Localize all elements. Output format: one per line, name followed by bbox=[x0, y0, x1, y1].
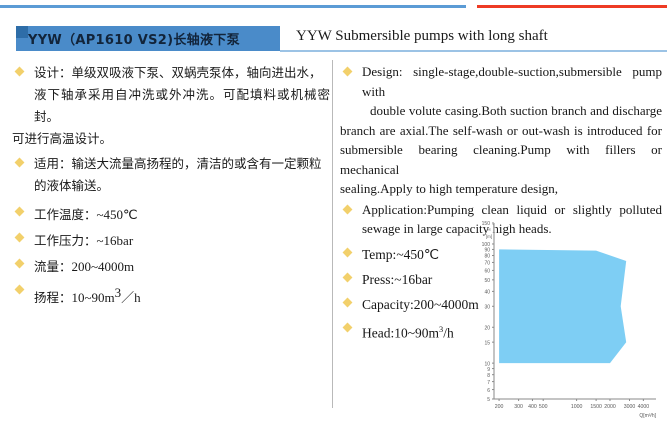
chart-xtick-label: 300 bbox=[514, 404, 523, 410]
title-banner-corner bbox=[16, 26, 28, 38]
spec-capacity-cn: 流量：200~4000m bbox=[12, 254, 330, 279]
column-divider bbox=[332, 60, 333, 408]
chart-ytick-label: 5 bbox=[487, 397, 490, 403]
spec-head-value-cn: 10~90m bbox=[72, 290, 115, 305]
design-block-en: Design: single-stage,double-suction,subm… bbox=[340, 62, 662, 199]
spec-head-label-cn: 扬程： bbox=[34, 290, 72, 305]
chart-ytick-label: 100 bbox=[482, 242, 491, 248]
design-line-1-en: Design: single-stage,double-suction,subm… bbox=[362, 62, 662, 101]
chart-ytick-label: 9 bbox=[487, 367, 490, 373]
chart-xlabel: Q[m³/h] bbox=[639, 413, 656, 419]
chart-xtick-label: 1000 bbox=[571, 404, 583, 410]
diamond-bullet-icon bbox=[15, 259, 25, 269]
top-rule-blue bbox=[0, 5, 466, 8]
design-line-3-en: branch are axial.The self-wash or out-wa… bbox=[340, 121, 662, 141]
spec-capacity-value-cn: 200~4000m bbox=[72, 259, 135, 274]
spec-temp-value-cn: ~450℃ bbox=[97, 207, 138, 222]
page-header: YYW（AP1610 VS2)长轴液下泵 YYW Submersible pum… bbox=[0, 26, 667, 54]
performance-chart-svg: 5678910152030405060708090100150200300400… bbox=[468, 217, 664, 423]
spec-press-value-en: ~16bar bbox=[394, 272, 432, 287]
chart-xtick-label: 200 bbox=[495, 404, 504, 410]
chart-ytick-label: 15 bbox=[484, 340, 490, 346]
chart-ytick-label: 40 bbox=[484, 290, 490, 296]
chart-xtick-label: 400 bbox=[528, 404, 537, 410]
application-block-cn: 适用：输送大流量高扬程的，清洁的或含有一定颗粒 的液体输送。 bbox=[12, 153, 330, 197]
chart-ytick-label: 70 bbox=[484, 261, 490, 267]
header-underline bbox=[280, 50, 667, 52]
spec-head-unit-cn: ／h bbox=[121, 290, 141, 305]
design-line-2-en: double volute casing.Both suction branch… bbox=[362, 101, 662, 121]
diamond-bullet-icon bbox=[15, 158, 25, 168]
spec-capacity-label-cn: 流量： bbox=[34, 259, 72, 274]
top-rule-red bbox=[477, 5, 667, 8]
spec-temp-value-en: ~450℃ bbox=[396, 247, 439, 262]
chart-ytick-label: 90 bbox=[484, 248, 490, 254]
page-title-en: YYW Submersible pumps with long shaft bbox=[296, 28, 548, 45]
chart-xtick-label: 500 bbox=[539, 404, 548, 410]
diamond-bullet-icon bbox=[343, 204, 353, 214]
spec-press-label-cn: 工作压力： bbox=[34, 233, 97, 248]
slide-page: YYW（AP1610 VS2)长轴液下泵 YYW Submersible pum… bbox=[0, 0, 667, 428]
design-line-4-en: submersible bearing cleaning.Pump with f… bbox=[340, 140, 662, 179]
spec-capacity-label-en: Capacity: bbox=[362, 297, 414, 312]
left-column: 设计：单级双吸液下泵、双蜗壳泵体，轴向进出水， 液下轴承采用自冲洗或外冲洗。可配… bbox=[12, 62, 330, 311]
chart-ytick-label: 30 bbox=[484, 304, 490, 310]
diamond-bullet-icon bbox=[15, 207, 25, 217]
diamond-bullet-icon bbox=[343, 272, 353, 282]
chart-ytick-label: 60 bbox=[484, 269, 490, 275]
chart-ytick-label: 20 bbox=[484, 325, 490, 331]
chart-ytick-label: 6 bbox=[487, 388, 490, 394]
spec-press-label-en: Press: bbox=[362, 272, 394, 287]
spec-head-value-en: 10~90m bbox=[394, 325, 439, 340]
diamond-bullet-icon bbox=[343, 67, 353, 77]
chart-ytick-label: 7 bbox=[487, 380, 490, 386]
diamond-bullet-icon bbox=[15, 285, 25, 295]
chart-ytick-label: 8 bbox=[487, 373, 490, 379]
design-line-5-en: sealing.Apply to high temperature design… bbox=[340, 179, 662, 199]
chart-ytick-label: 50 bbox=[484, 278, 490, 284]
chart-ytick-label: 80 bbox=[484, 254, 490, 260]
design-block-cn: 设计：单级双吸液下泵、双蜗壳泵体，轴向进出水， 液下轴承采用自冲洗或外冲洗。可配… bbox=[12, 62, 330, 150]
chart-envelope-area bbox=[499, 249, 626, 363]
performance-chart: 5678910152030405060708090100150200300400… bbox=[468, 217, 664, 423]
chart-xtick-label: 1500 bbox=[590, 404, 602, 410]
spec-head-unit-en: /h bbox=[443, 325, 454, 340]
spec-temp-label-en: Temp: bbox=[362, 247, 396, 262]
spec-head-label-en: Head: bbox=[362, 325, 394, 340]
design-line-1: 设计：单级双吸液下泵、双蜗壳泵体，轴向进出水， bbox=[34, 62, 330, 84]
spec-press-cn: 工作压力：~16bar bbox=[12, 228, 330, 253]
spec-temp-cn: 工作温度：~450℃ bbox=[12, 202, 330, 227]
diamond-bullet-icon bbox=[343, 322, 353, 332]
diamond-bullet-icon bbox=[343, 297, 353, 307]
chart-ylabel: H bbox=[487, 227, 490, 232]
chart-xtick-label: 4000 bbox=[638, 404, 650, 410]
spec-temp-label-cn: 工作温度： bbox=[34, 207, 97, 222]
chart-ytick-label: 10 bbox=[484, 361, 490, 367]
chart-xtick-label: 3000 bbox=[624, 404, 636, 410]
design-line-2: 液下轴承采用自冲洗或外冲洗。可配填料或机械密封。 bbox=[34, 84, 330, 128]
chart-xtick-label: 2000 bbox=[604, 404, 616, 410]
chart-ylabel-unit: [m] bbox=[486, 234, 492, 239]
application-line-2: 的液体输送。 bbox=[34, 175, 330, 197]
diamond-bullet-icon bbox=[15, 233, 25, 243]
page-title-cn: YYW（AP1610 VS2)长轴液下泵 bbox=[28, 29, 278, 48]
spec-press-value-cn: ~16bar bbox=[97, 233, 134, 248]
design-line-3: 可进行高温设计。 bbox=[12, 128, 330, 150]
application-line-1: 适用：输送大流量高扬程的，清洁的或含有一定颗粒 bbox=[34, 153, 330, 175]
diamond-bullet-icon bbox=[343, 247, 353, 257]
diamond-bullet-icon bbox=[15, 67, 25, 77]
spec-head-cn: 扬程：10~90m3／h bbox=[12, 280, 330, 310]
